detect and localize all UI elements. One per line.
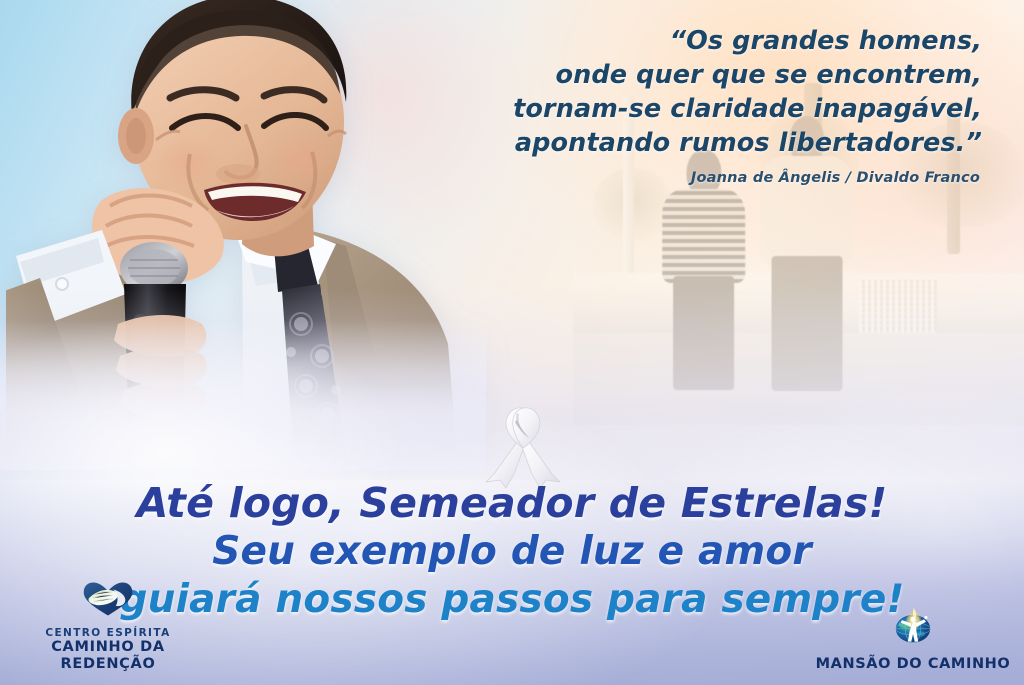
logo-centro-espirita: CENTRO ESPÍRITA CAMINHO DA REDENÇÃO <box>8 580 208 673</box>
figure-torso <box>662 189 746 284</box>
message-line-1: Até logo, Semeador de Estrelas! <box>0 483 1024 524</box>
message-line-2: Seu exemplo de luz e amor <box>0 532 1024 571</box>
quote-attribution: Joanna de Ângelis / Divaldo Franco <box>420 170 980 186</box>
quote-block: “Os grandes homens, onde quer que se enc… <box>422 24 982 160</box>
memorial-poster: “Os grandes homens, onde quer que se enc… <box>0 0 1024 685</box>
logo-mansao-do-caminho: MANSÃO DO CAMINHO <box>808 607 1018 673</box>
quote-line-4: apontando rumos libertadores.” <box>422 126 982 160</box>
quote-line-1: “Os grandes homens, <box>422 24 982 58</box>
logo-left-line-2: CAMINHO DA REDENÇÃO <box>8 639 208 673</box>
logo-right-line-2: MANSÃO DO CAMINHO <box>808 656 1018 673</box>
logo-left-line-1: CENTRO ESPÍRITA <box>8 627 208 639</box>
heart-hands-icon <box>8 580 208 622</box>
white-ribbon-icon <box>484 404 562 490</box>
quote-line-3: tornam-se claridade inapagável, <box>422 92 982 126</box>
quote-line-2: onde quer que se encontrem, <box>422 58 982 92</box>
globe-figure-torch-icon <box>808 607 1018 651</box>
